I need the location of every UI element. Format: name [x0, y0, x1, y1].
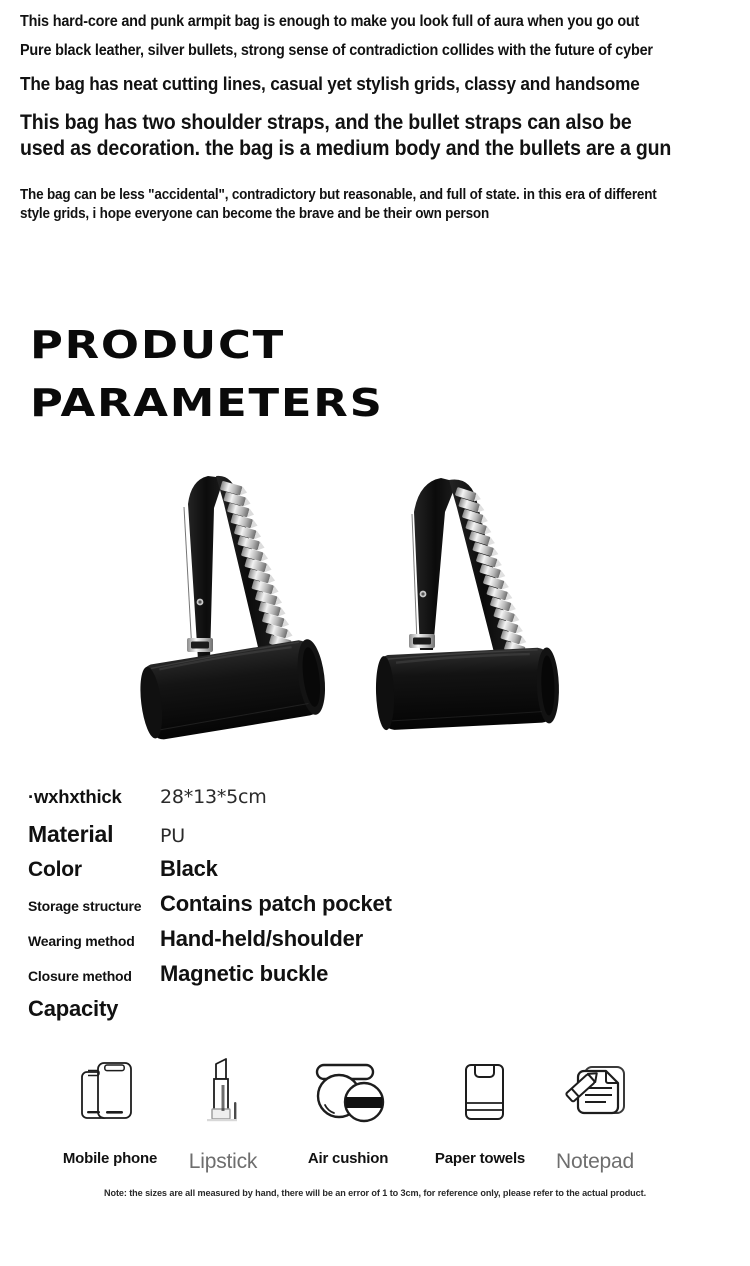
- spec-value-material: PU: [160, 825, 185, 847]
- table-row: Storage structure Contains patch pocket: [0, 891, 750, 926]
- table-row: ·wxhxthick 28*13*5cm: [0, 786, 750, 821]
- page-title-line-2: PARAMETERS: [30, 374, 384, 432]
- table-row: Closure method Magnetic buckle: [0, 961, 750, 996]
- page-title-line-1: PRODUCT: [30, 316, 384, 374]
- intro-line-5: The bag can be less "accidental", contra…: [20, 186, 680, 224]
- capacity-label-paper-towels: Paper towels: [420, 1150, 540, 1167]
- capacity-item-mobile-phone: [50, 1042, 170, 1142]
- spec-label-color: Color: [0, 858, 160, 882]
- intro-line-4: This bag has two shoulder straps, and th…: [20, 110, 680, 162]
- capacity-item-notepad: [538, 1042, 658, 1142]
- paper-towels-icon: [454, 1055, 514, 1129]
- product-photo-angled[interactable]: [128, 452, 358, 752]
- table-row: Material PU: [0, 821, 750, 856]
- page-title: PRODUCT PARAMETERS: [30, 316, 330, 432]
- mobile-phone-icon: [73, 1055, 147, 1129]
- spec-label-wearing-method: Wearing method: [0, 933, 160, 949]
- air-cushion-icon: [305, 1055, 391, 1129]
- capacity-label-lipstick: Lipstick: [163, 1150, 283, 1174]
- lipstick-icon: [193, 1055, 257, 1129]
- capacity-label-strip: Mobile phone Lipstick Air cushion Paper …: [0, 1150, 750, 1180]
- capacity-item-lipstick: [165, 1042, 285, 1142]
- spec-value-wearing-method: Hand-held/shoulder: [160, 926, 363, 952]
- spec-label-storage-structure: Storage structure: [0, 898, 160, 914]
- capacity-label-notepad: Notepad: [535, 1150, 655, 1174]
- intro-line-1: This hard-core and punk armpit bag is en…: [20, 8, 680, 36]
- spec-label-material: Material: [0, 821, 160, 848]
- table-row: Color Black: [0, 856, 750, 891]
- notepad-icon: [558, 1055, 638, 1129]
- plain-strap: [414, 478, 457, 650]
- spec-value-closure-method: Magnetic buckle: [160, 961, 328, 987]
- spec-label-capacity: Capacity: [0, 996, 160, 1022]
- intro-copy-block: This hard-core and punk armpit bag is en…: [0, 0, 750, 224]
- product-photo-front[interactable]: [365, 452, 595, 752]
- capacity-label-air-cushion: Air cushion: [288, 1150, 408, 1167]
- bag-body: [375, 647, 561, 730]
- capacity-icon-strip: [0, 1042, 750, 1142]
- capacity-item-paper-towels: [424, 1042, 544, 1142]
- spec-value-dimensions: 28*13*5cm: [160, 786, 267, 808]
- measurement-disclaimer: Note: the sizes are all measured by hand…: [15, 1188, 735, 1199]
- capacity-item-air-cushion: [288, 1042, 408, 1142]
- spec-value-color: Black: [160, 856, 218, 882]
- capacity-label-mobile-phone: Mobile phone: [50, 1150, 170, 1167]
- table-row: Capacity: [0, 996, 750, 1031]
- intro-line-3: The bag has neat cutting lines, casual y…: [20, 66, 680, 102]
- bag-body: [136, 638, 330, 742]
- product-parameters-table: ·wxhxthick 28*13*5cm Material PU Color B…: [0, 786, 750, 1031]
- product-photo-gallery: [0, 452, 750, 752]
- intro-line-2: Pure black leather, silver bullets, stro…: [20, 36, 680, 66]
- spec-value-storage-structure: Contains patch pocket: [160, 891, 392, 917]
- plain-strap: [188, 476, 224, 660]
- table-row: Wearing method Hand-held/shoulder: [0, 926, 750, 961]
- spec-label-dimensions: ·wxhxthick: [0, 786, 160, 808]
- spec-label-closure-method: Closure method: [0, 968, 160, 984]
